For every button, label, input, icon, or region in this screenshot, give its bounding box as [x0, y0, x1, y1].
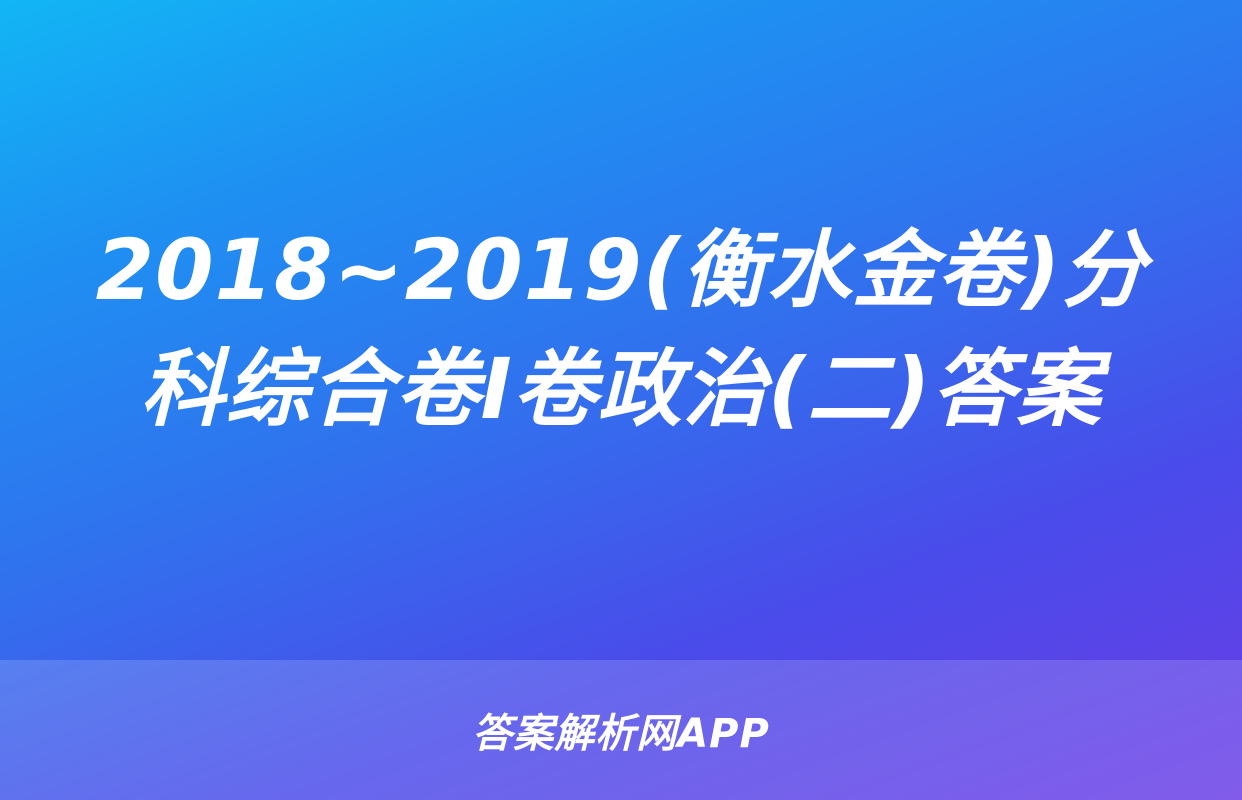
poster-title-area: 2018~2019(衡水金卷)分科综合卷I卷政治(二)答案	[0, 0, 1242, 660]
poster-canvas: 2018~2019(衡水金卷)分科综合卷I卷政治(二)答案 答案解析网APP	[0, 0, 1242, 800]
page-title: 2018~2019(衡水金卷)分科综合卷I卷政治(二)答案	[60, 211, 1182, 450]
app-brand-label: 答案解析网APP	[472, 701, 770, 759]
footer-bar: 答案解析网APP	[0, 660, 1242, 800]
